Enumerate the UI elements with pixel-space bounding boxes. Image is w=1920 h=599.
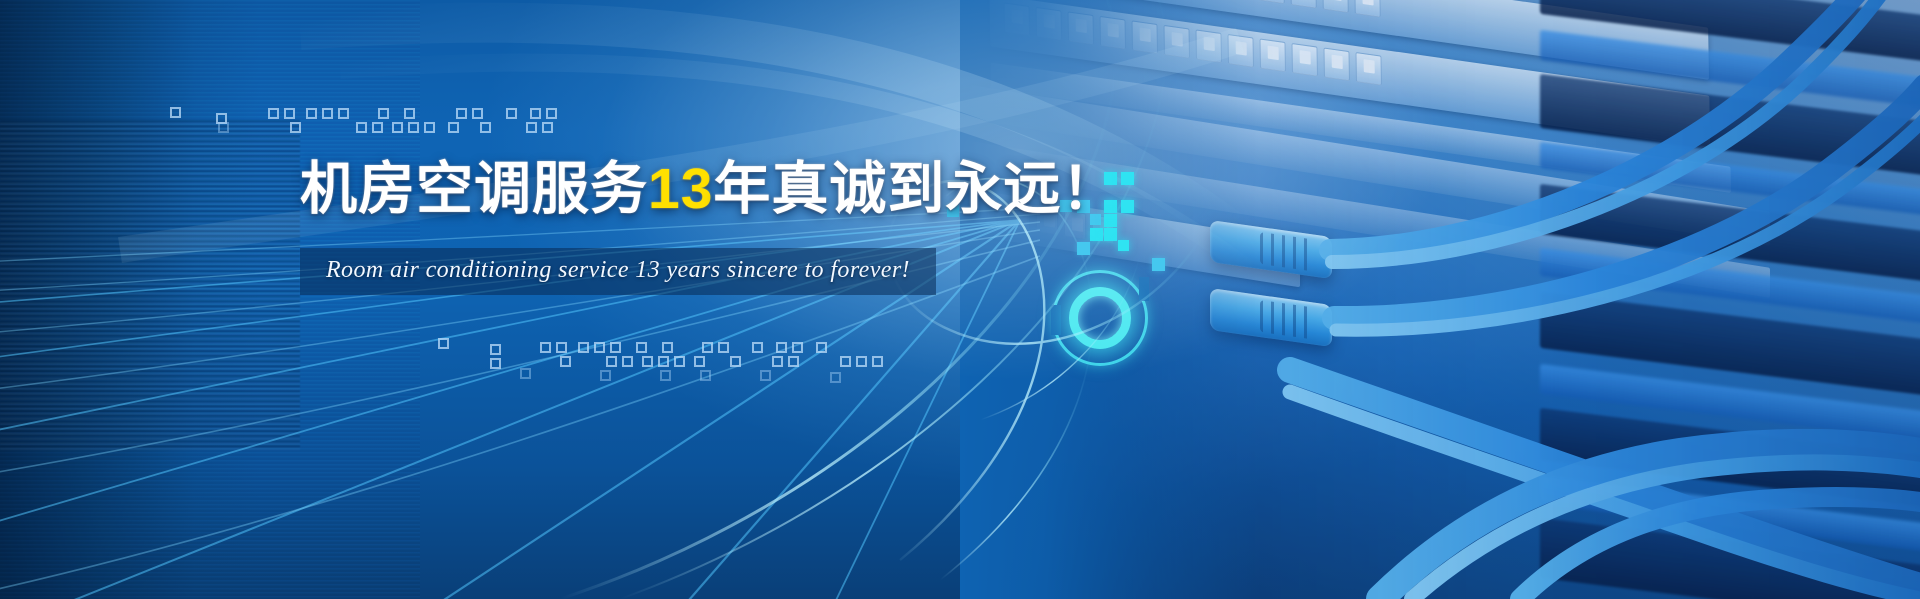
headline-prefix: 机房空调服务 (300, 157, 648, 221)
hud-inner-ring-icon (1069, 287, 1131, 349)
banner-copy: 机房空调服务13年真诚到永远！ Room air conditioning se… (300, 160, 1140, 295)
page-title: 机房空调服务13年真诚到永远！ (300, 160, 1140, 220)
subtitle-text: Room air conditioning service 13 years s… (326, 257, 910, 284)
subtitle-band: Room air conditioning service 13 years s… (300, 248, 936, 295)
server-rack-image (960, 0, 1920, 599)
hero-banner: 机房空调服务13年真诚到永远！ Room air conditioning se… (0, 0, 1920, 599)
headline-highlight-number: 13 (648, 157, 713, 221)
headline-suffix: 年真诚到永远！ (713, 157, 1119, 221)
